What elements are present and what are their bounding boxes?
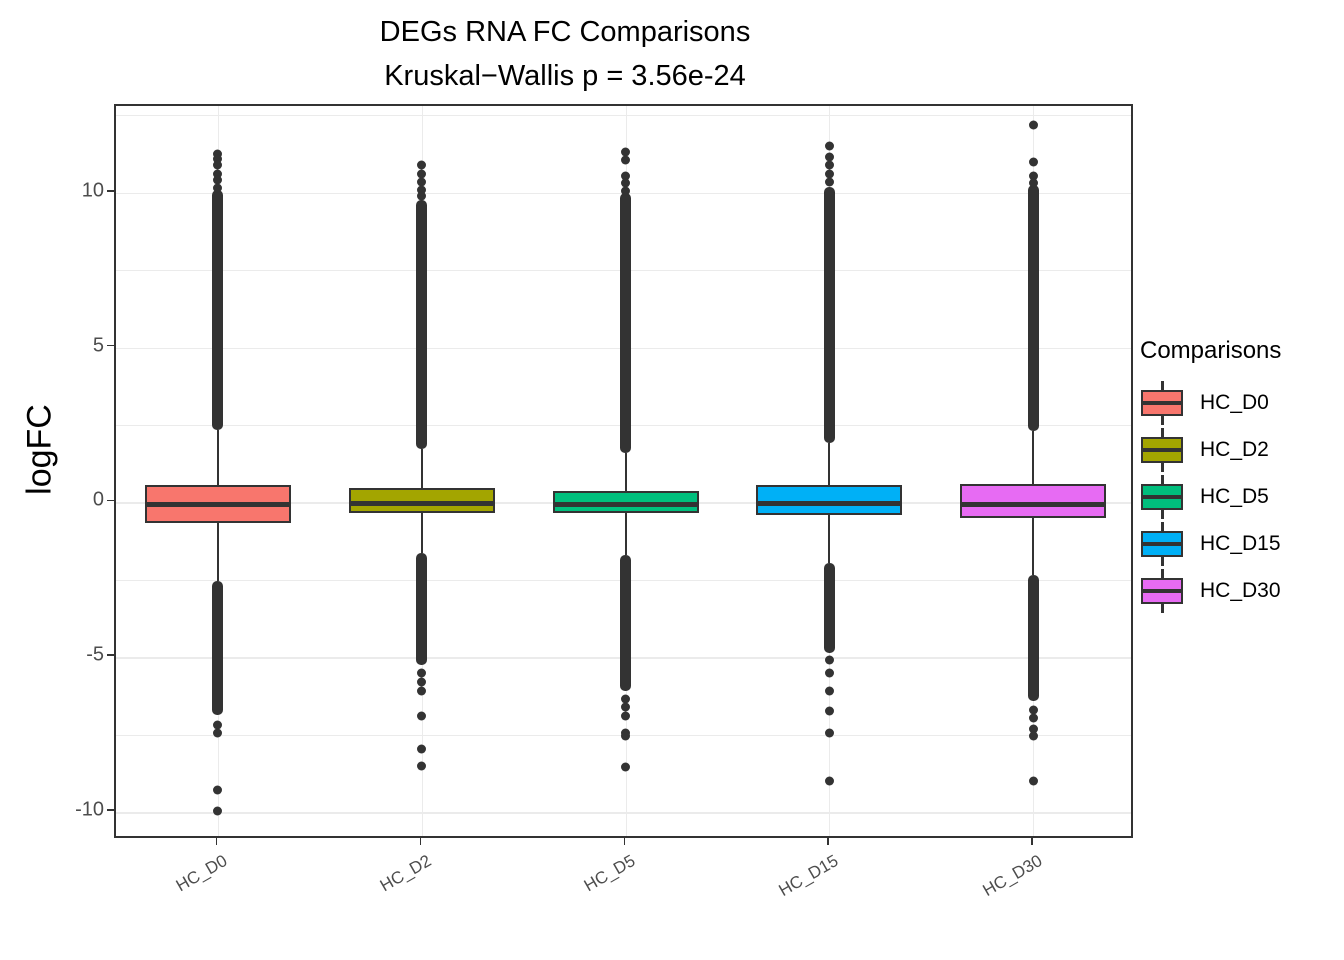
legend-item-hc_d5[interactable]: HC_D5 (1140, 473, 1340, 520)
x-tick-mark (827, 838, 829, 845)
legend-median (1141, 589, 1183, 594)
y-tick-mark (107, 809, 114, 811)
legend-key-swatch (1140, 428, 1184, 472)
legend-median (1141, 495, 1183, 500)
y-tick-label: -10 (46, 799, 104, 822)
legend-item-hc_d0[interactable]: HC_D0 (1140, 379, 1340, 426)
y-tick-label: -5 (46, 644, 104, 667)
legend-key-swatch (1140, 381, 1184, 425)
legend-item-hc_d30[interactable]: HC_D30 (1140, 567, 1340, 614)
legend-key-swatch (1140, 522, 1184, 566)
legend-median (1141, 401, 1183, 406)
chart-root: DEGs RNA FC Comparisons Kruskal−Wallis p… (0, 0, 1344, 960)
y-tick-label: 0 (46, 489, 104, 512)
legend-key-swatch (1140, 475, 1184, 519)
legend-median (1141, 448, 1183, 453)
x-tick-label: HC_D0 (134, 851, 231, 918)
x-tick-label: HC_D2 (338, 851, 435, 918)
y-tick-mark (107, 654, 114, 656)
x-tick-mark (1031, 838, 1033, 845)
legend-label: HC_D5 (1200, 485, 1269, 509)
legend: Comparisons HC_D0HC_D2HC_D5HC_D15HC_D30 (1140, 337, 1340, 614)
legend-items: HC_D0HC_D2HC_D5HC_D15HC_D30 (1140, 379, 1340, 614)
legend-label: HC_D15 (1200, 532, 1281, 556)
x-tick-mark (420, 838, 422, 845)
legend-item-hc_d2[interactable]: HC_D2 (1140, 426, 1340, 473)
y-tick-mark (107, 500, 114, 502)
legend-title: Comparisons (1140, 337, 1340, 365)
x-tick-label: HC_D5 (542, 851, 639, 918)
x-tick-mark (624, 838, 626, 845)
x-tick-label: HC_D30 (949, 851, 1046, 918)
legend-median (1141, 542, 1183, 547)
y-tick-label: 10 (46, 179, 104, 202)
y-tick-label: 5 (46, 334, 104, 357)
legend-label: HC_D0 (1200, 391, 1269, 415)
legend-key-swatch (1140, 569, 1184, 613)
x-tick-mark (216, 838, 218, 845)
legend-label: HC_D30 (1200, 579, 1281, 603)
x-tick-label: HC_D15 (746, 851, 843, 918)
legend-item-hc_d15[interactable]: HC_D15 (1140, 520, 1340, 567)
legend-label: HC_D2 (1200, 438, 1269, 462)
y-tick-mark (107, 190, 114, 192)
y-tick-mark (107, 345, 114, 347)
